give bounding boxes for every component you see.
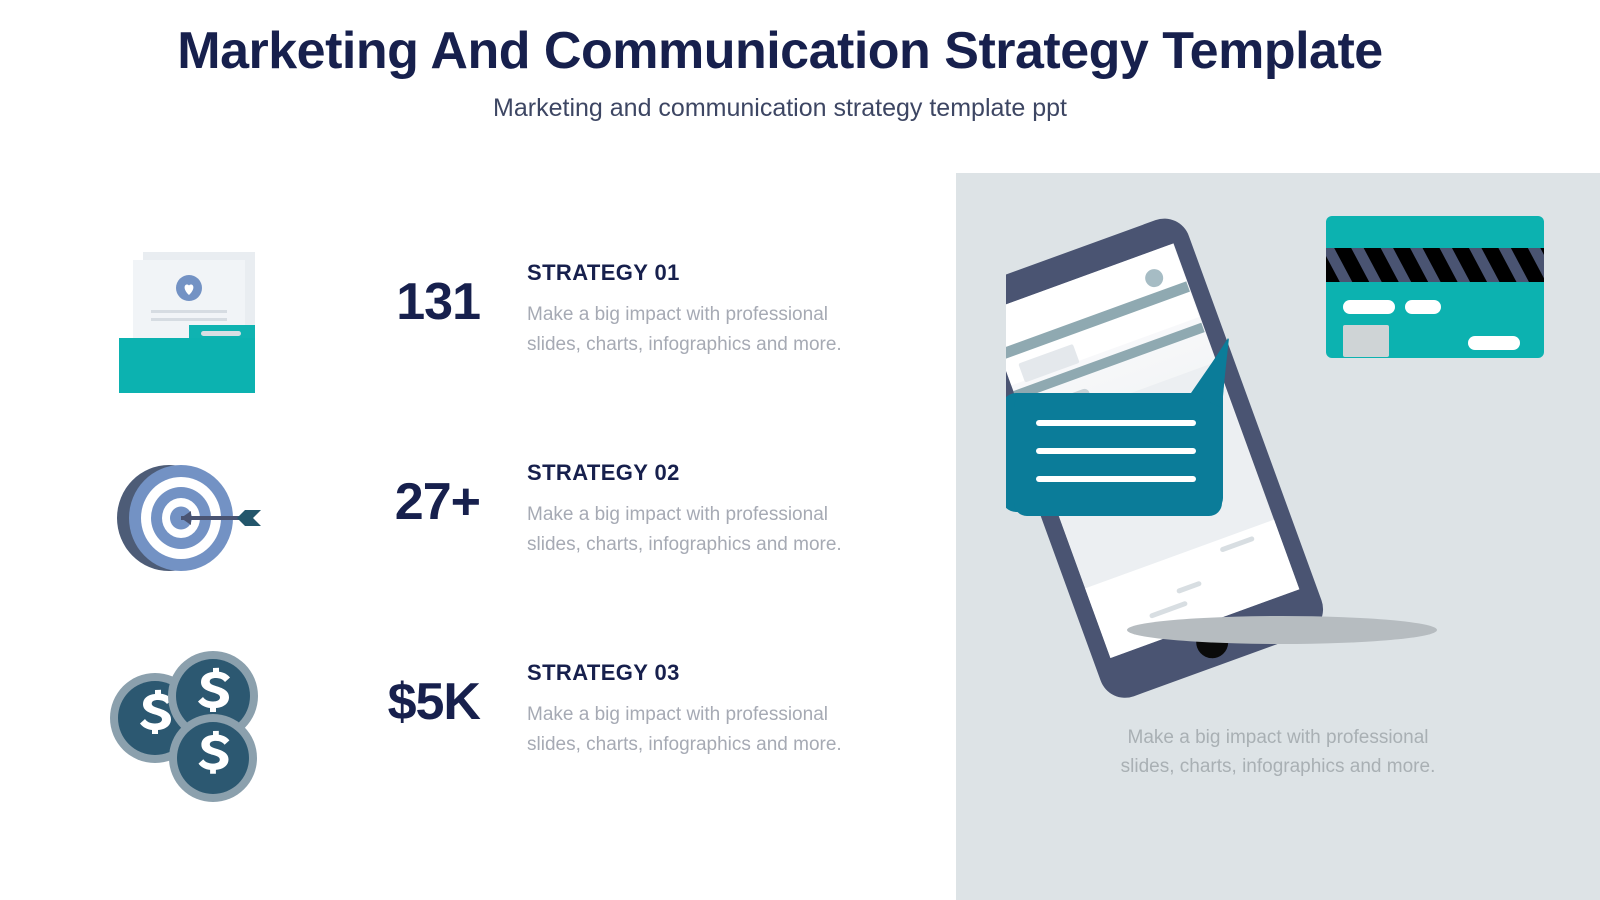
illustration-panel: Make a big impact with professional slid…	[956, 173, 1600, 900]
strategy-body: STRATEGY 01 Make a big impact with profe…	[527, 260, 927, 359]
strategy-description-line2: slides, charts, infographics and more.	[527, 734, 842, 755]
strategy-description-line2: slides, charts, infographics and more.	[527, 334, 842, 355]
strategy-stat: 27+	[350, 476, 480, 528]
strategy-row[interactable]: $5K STRATEGY 03 Make a big impact with p…	[95, 630, 925, 830]
panel-caption: Make a big impact with professional slid…	[986, 723, 1570, 782]
panel-caption-line1: Make a big impact with professional	[986, 723, 1570, 752]
strategy-title: STRATEGY 03	[527, 660, 927, 686]
strategy-description-line1: Make a big impact with professional	[527, 704, 828, 725]
strategy-row[interactable]: 27+ STRATEGY 02 Make a big impact with p…	[95, 430, 925, 630]
page-title: Marketing And Communication Strategy Tem…	[0, 22, 1560, 82]
strategy-description-line1: Make a big impact with professional	[527, 504, 828, 525]
strategy-title: STRATEGY 02	[527, 460, 927, 486]
drop-shadow-ellipse	[1127, 616, 1437, 644]
strategy-description: Make a big impact with professional slid…	[527, 700, 927, 759]
money-coins-icon	[105, 630, 270, 805]
target-bullseye-icon	[105, 430, 270, 605]
strategy-list: 131 STRATEGY 01 Make a big impact with p…	[95, 230, 925, 830]
strategy-description-line1: Make a big impact with professional	[527, 304, 828, 325]
page-subtitle: Marketing and communication strategy tem…	[0, 92, 1560, 125]
panel-caption-line2: slides, charts, infographics and more.	[986, 752, 1570, 781]
strategy-stat: $5K	[350, 676, 480, 728]
strategy-body: STRATEGY 02 Make a big impact with profe…	[527, 460, 927, 559]
strategy-title: STRATEGY 01	[527, 260, 927, 286]
strategy-description-line2: slides, charts, infographics and more.	[527, 534, 842, 555]
strategy-description: Make a big impact with professional slid…	[527, 500, 927, 559]
strategy-description: Make a big impact with professional slid…	[527, 300, 927, 359]
strategy-stat: 131	[350, 276, 480, 328]
strategy-row[interactable]: 131 STRATEGY 01 Make a big impact with p…	[95, 230, 925, 430]
mobile-phone-credit-card-chat-illustration	[1006, 208, 1551, 728]
credit-card-graphic	[1326, 216, 1544, 358]
envelope-mail-icon	[105, 230, 270, 405]
strategy-body: STRATEGY 03 Make a big impact with profe…	[527, 660, 927, 759]
